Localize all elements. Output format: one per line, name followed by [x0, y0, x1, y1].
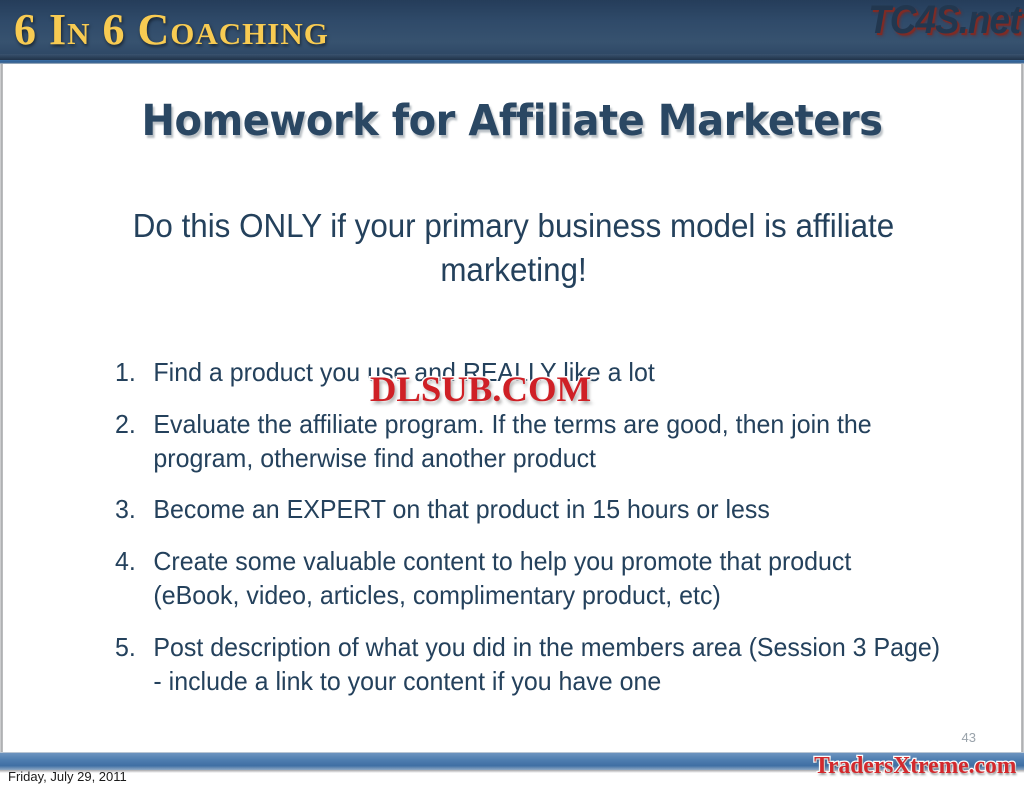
tc4s-logo: TC4S.net — [868, 0, 1020, 43]
list-item-number: 4. — [115, 545, 153, 613]
list-item-text: Evaluate the affiliate program. If the t… — [153, 408, 940, 476]
tradersxtreme-logo: TradersXtreme.com — [814, 753, 1016, 780]
list-item-number: 1. — [115, 356, 153, 390]
list-item: 3. Become an EXPERT on that product in 1… — [115, 493, 941, 527]
list-item: 2. Evaluate the affiliate program. If th… — [115, 408, 941, 476]
list-item-text: Become an EXPERT on that product in 15 h… — [153, 493, 940, 527]
list-item: 5. Post description of what you did in t… — [115, 631, 941, 699]
slide-canvas: 6 In 6 Coaching TC4S.net Homework for Af… — [0, 0, 1024, 788]
header-band: 6 In 6 Coaching TC4S.net — [0, 0, 1024, 60]
list-item-number: 2. — [115, 408, 153, 476]
page-title: Homework for Affiliate Marketers — [39, 96, 986, 146]
brand-title: 6 In 6 Coaching — [14, 4, 329, 55]
list-item-text: Create some valuable content to help you… — [153, 545, 940, 613]
homework-step-list: 1. Find a product you use and REALLY lik… — [115, 356, 975, 716]
slide-subtitle: Do this ONLY if your primary business mo… — [112, 204, 915, 291]
list-item-number: 3. — [115, 493, 153, 527]
list-item: 4. Create some valuable content to help … — [115, 545, 941, 613]
list-item-number: 5. — [115, 631, 153, 699]
page-number: 43 — [962, 730, 976, 745]
dlsub-watermark: DLSUB.COM — [370, 368, 591, 410]
list-item-text: Post description of what you did in the … — [153, 631, 940, 699]
footer-date: Friday, July 29, 2011 — [8, 769, 127, 784]
